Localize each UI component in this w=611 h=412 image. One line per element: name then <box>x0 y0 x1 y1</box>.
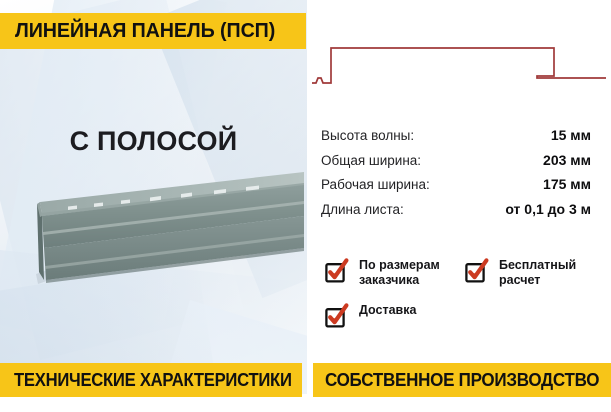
tech-specs-banner: ТЕХНИЧЕСКИЕ ХАРАКТЕРИСТИКИ <box>0 363 302 397</box>
profile-cross-section-diagram <box>310 36 608 92</box>
checkbox-checked-icon <box>325 258 350 283</box>
own-production-banner: СОБСТВЕННОЕ ПРОИЗВОДСТВО <box>313 363 611 397</box>
page-title: С ПОЛОСОЙ <box>0 126 307 157</box>
feature-item-delivery: Доставка <box>325 302 416 328</box>
spec-label: Длина листа: <box>321 202 404 217</box>
spec-row: Длина листа: от 0,1 до 3 м <box>321 201 591 226</box>
spec-label: Общая ширина: <box>321 153 421 168</box>
infographic-card: ЛИНЕЙНАЯ ПАНЕЛЬ (ПСП) С ПОЛОСОЙ <box>0 0 611 412</box>
spec-label: Рабочая ширина: <box>321 177 430 192</box>
feature-item-free-calculation: Бесплатный расчет <box>465 257 576 287</box>
spec-value: 175 мм <box>543 176 591 192</box>
spec-row: Рабочая ширина: 175 мм <box>321 176 591 201</box>
tech-specs-banner-text: ТЕХНИЧЕСКИЕ ХАРАКТЕРИСТИКИ <box>14 369 292 391</box>
spec-label: Высота волны: <box>321 128 414 143</box>
feature-label: По размерам заказчика <box>359 257 440 287</box>
title-banner-text: ЛИНЕЙНАЯ ПАНЕЛЬ (ПСП) <box>15 19 275 43</box>
own-production-banner-text: СОБСТВЕННОЕ ПРОИЗВОДСТВО <box>325 369 599 391</box>
spec-value: от 0,1 до 3 м <box>505 201 591 217</box>
checkbox-checked-icon <box>325 303 350 328</box>
checkbox-checked-icon <box>465 258 490 283</box>
title-banner: ЛИНЕЙНАЯ ПАНЕЛЬ (ПСП) <box>0 13 306 49</box>
specs-table: Высота волны: 15 мм Общая ширина: 203 мм… <box>321 127 591 225</box>
linear-panel-product-photo <box>18 172 304 290</box>
feature-label: Бесплатный расчет <box>499 257 576 287</box>
spec-value: 203 мм <box>543 152 591 168</box>
feature-item-custom-sizes: По размерам заказчика <box>325 257 440 287</box>
spec-row: Общая ширина: 203 мм <box>321 152 591 177</box>
feature-label: Доставка <box>359 302 416 318</box>
spec-row: Высота волны: 15 мм <box>321 127 591 152</box>
spec-value: 15 мм <box>551 127 591 143</box>
